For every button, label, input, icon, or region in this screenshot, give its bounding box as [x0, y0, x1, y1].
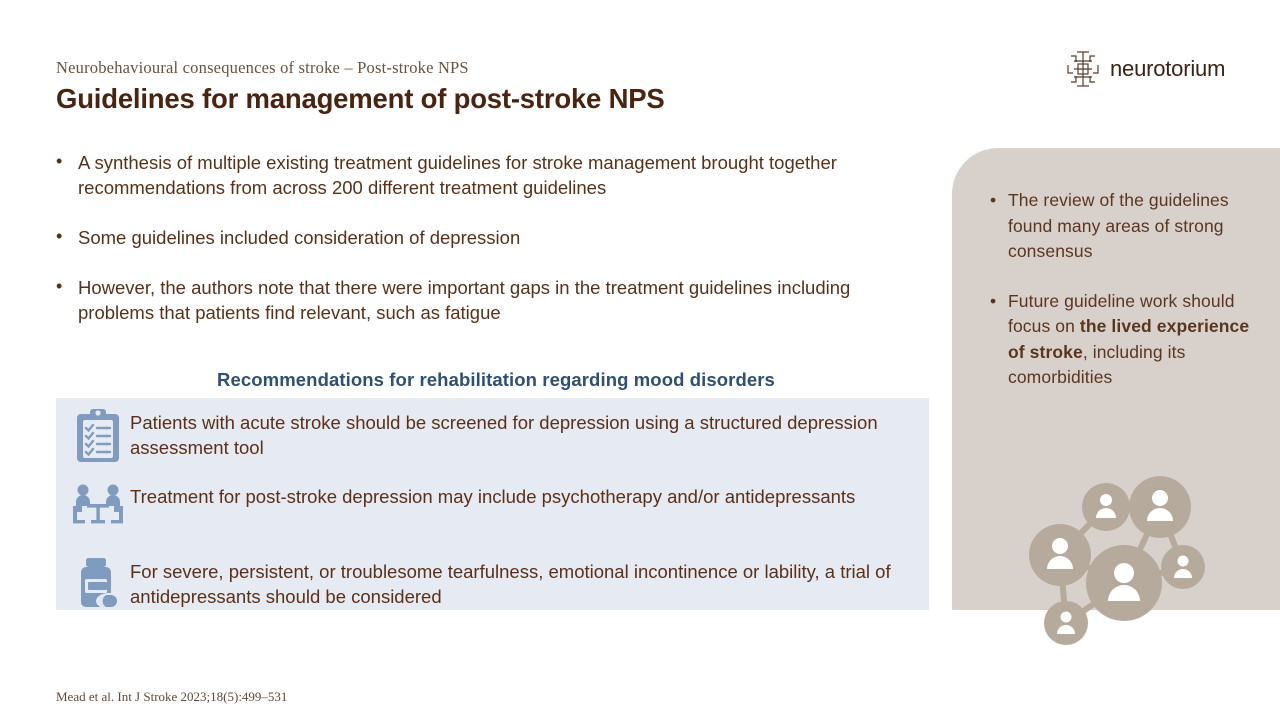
recommendation-text-3: For severe, persistent, or troublesome t…	[130, 555, 905, 609]
main-bullet-2: • Some guidelines included consideration…	[52, 225, 912, 250]
bullet-glyph: •	[56, 149, 62, 174]
bullet-glyph: •	[56, 224, 62, 249]
source-citation: Mead et al. Int J Stroke 2023;18(5):499–…	[56, 689, 287, 705]
recommendations-heading: Recommendations for rehabilitation regar…	[56, 369, 936, 391]
people-network-illustration	[1020, 463, 1244, 649]
network-node-person-small-bottom	[1044, 601, 1088, 645]
side-panel-bullet-1: • The review of the guidelines found man…	[988, 188, 1256, 265]
capsule-shape	[96, 593, 122, 609]
side-panel-bullet-2: • Future guideline work should focus on …	[988, 289, 1256, 391]
recommendation-text-2: Treatment for post-stroke depression may…	[130, 480, 855, 509]
main-bullet-3: • However, the authors note that there w…	[52, 275, 912, 325]
side-panel-bullet-1-text: The review of the guidelines found many …	[1008, 190, 1229, 261]
pill-bottle-icon	[73, 557, 123, 609]
main-bullet-1: • A synthesis of multiple existing treat…	[52, 150, 912, 200]
recommendation-row-2: Treatment for post-stroke depression may…	[66, 480, 926, 532]
page-title: Guidelines for management of post-stroke…	[56, 83, 665, 115]
side-panel-content: • The review of the guidelines found man…	[988, 188, 1256, 415]
main-bullet-3-text: However, the authors note that there wer…	[78, 277, 850, 323]
recommendation-icon-3	[66, 555, 130, 609]
bullet-glyph: •	[56, 274, 62, 299]
bullet-glyph: •	[990, 188, 996, 214]
recommendation-icon-2	[66, 480, 130, 532]
recommendation-row-3: For severe, persistent, or troublesome t…	[66, 555, 926, 609]
recommendation-icon-1	[66, 406, 130, 464]
recommendations-box: Patients with acute stroke should be scr…	[56, 398, 929, 610]
recommendation-text-1: Patients with acute stroke should be scr…	[130, 406, 905, 460]
main-bullet-list: • A synthesis of multiple existing treat…	[52, 150, 912, 350]
network-node-person-medium-topright	[1129, 476, 1191, 538]
main-bullet-1-text: A synthesis of multiple existing treatme…	[78, 152, 837, 198]
two-people-at-table-icon	[70, 482, 126, 532]
bullet-glyph: •	[990, 289, 996, 315]
network-node-person-medium-left	[1029, 524, 1091, 586]
main-bullet-2-text: Some guidelines included consideration o…	[78, 227, 520, 248]
clipboard-checklist-icon	[73, 408, 123, 464]
recommendation-row-1: Patients with acute stroke should be scr…	[66, 406, 926, 464]
network-node-person-small-right	[1161, 545, 1205, 589]
network-node-person-small-top	[1082, 483, 1130, 531]
neurotorium-logo-icon	[1066, 50, 1100, 88]
breadcrumb: Neurobehavioural consequences of stroke …	[56, 58, 469, 78]
logo-wordmark: neurotorium	[1110, 56, 1225, 82]
brand-logo[interactable]: neurotorium	[1066, 49, 1225, 89]
